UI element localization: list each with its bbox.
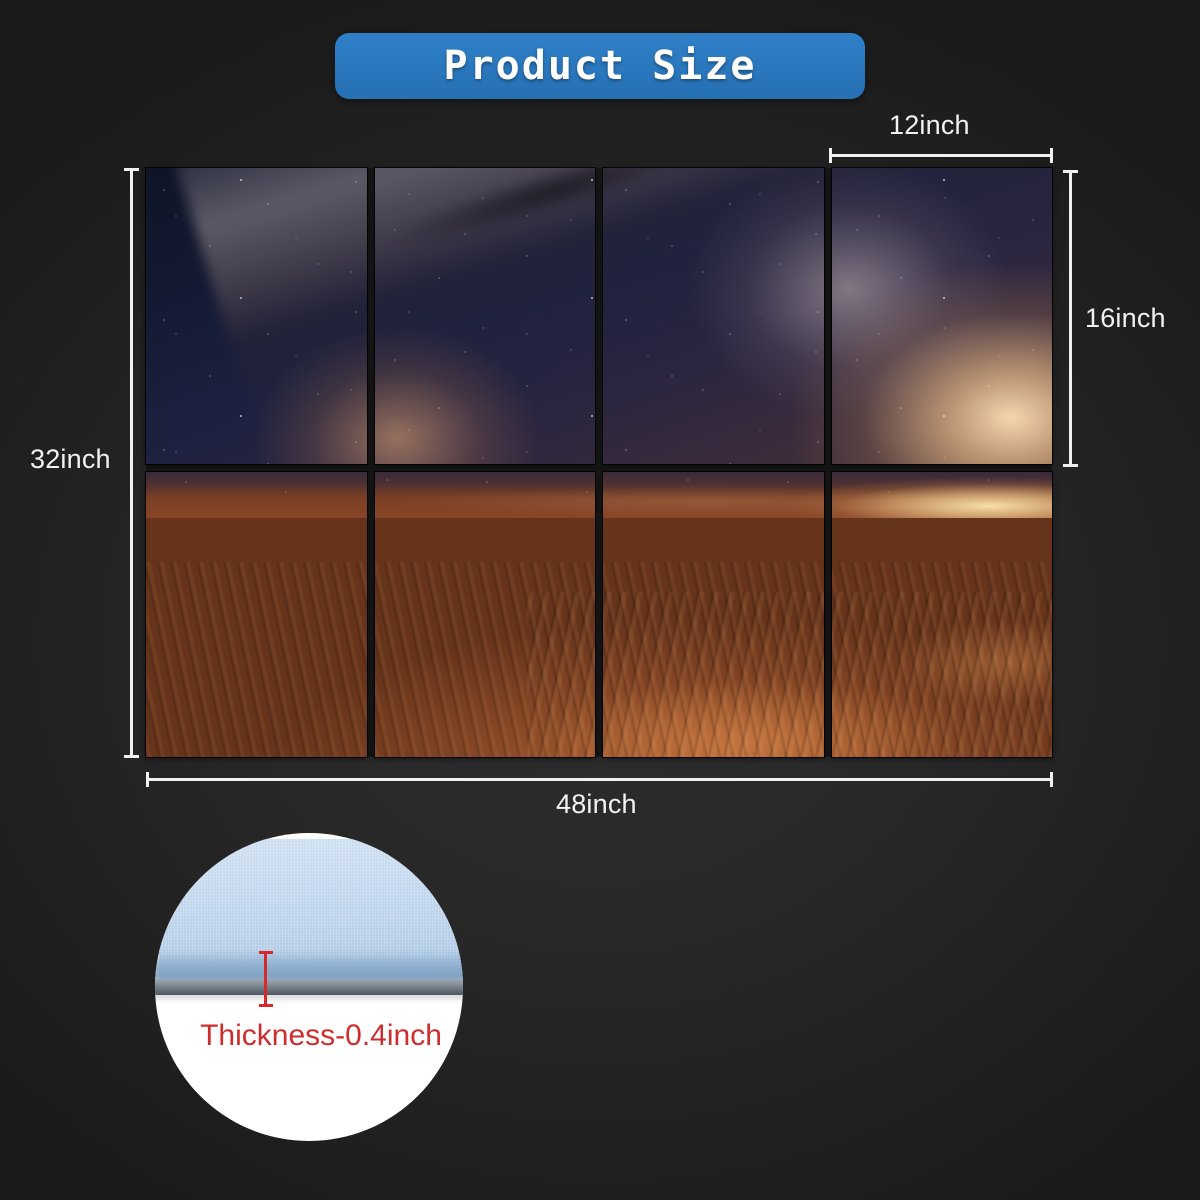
dimension-label-panel-width: 12inch bbox=[889, 110, 970, 141]
dimension-label-total-width: 48inch bbox=[556, 789, 637, 820]
sky-artwork-slice bbox=[603, 168, 824, 464]
canvas-panel-r2c2 bbox=[375, 472, 596, 757]
sky-artwork-slice bbox=[832, 168, 1053, 464]
star-field-secondary bbox=[146, 168, 367, 464]
canvas-panel-r2c4 bbox=[832, 472, 1053, 757]
canvas-panel-r2c1 bbox=[146, 472, 367, 757]
thickness-cap-bottom bbox=[259, 1004, 273, 1007]
dimension-label-panel-height: 16inch bbox=[1085, 303, 1166, 334]
dimension-line-total-width bbox=[146, 772, 1053, 787]
dimension-cap-bottom bbox=[124, 755, 139, 758]
star-field-secondary bbox=[832, 168, 1053, 464]
sand-ripples-secondary bbox=[603, 592, 824, 757]
dimension-bar bbox=[146, 778, 1053, 781]
star-field-secondary bbox=[375, 168, 596, 464]
canvas-panel-r2c3 bbox=[603, 472, 824, 757]
desert-artwork-slice bbox=[603, 472, 824, 757]
desert-artwork-slice bbox=[146, 472, 367, 757]
dimension-line-panel-width bbox=[829, 148, 1053, 162]
dimension-bar bbox=[130, 168, 133, 758]
sand-ripples-secondary bbox=[527, 592, 596, 757]
canvas-edge-closeup bbox=[155, 839, 463, 1019]
infographic-stage: Product Size bbox=[0, 0, 1200, 1200]
thickness-measure-bar bbox=[259, 951, 273, 1007]
dimension-cap-right bbox=[1050, 148, 1053, 163]
dimension-cap-right bbox=[1050, 772, 1053, 787]
dimension-cap-bottom bbox=[1063, 464, 1078, 467]
canvas-panel-r1c1 bbox=[146, 168, 367, 464]
thickness-detail-circle: Thickness-0.4inch bbox=[155, 833, 463, 1141]
dimension-bar bbox=[829, 154, 1053, 157]
canvas-panel-r1c2 bbox=[375, 168, 596, 464]
dimension-line-total-height bbox=[124, 168, 139, 758]
sky-artwork-slice bbox=[375, 168, 596, 464]
thickness-label: Thickness-0.4inch bbox=[167, 1019, 463, 1053]
sand-ripples-secondary bbox=[832, 592, 1053, 757]
dimension-bar bbox=[1069, 170, 1072, 467]
desert-artwork-slice bbox=[375, 472, 596, 757]
page-title: Product Size bbox=[444, 43, 757, 89]
canvas-drop-shadow bbox=[155, 993, 463, 1001]
dimension-label-total-height: 32inch bbox=[30, 444, 111, 475]
product-size-banner: Product Size bbox=[335, 33, 865, 99]
dimension-line-panel-height bbox=[1063, 170, 1078, 467]
canvas-panel-grid bbox=[146, 168, 1052, 757]
sky-artwork-slice bbox=[146, 168, 367, 464]
desert-artwork-slice bbox=[832, 472, 1053, 757]
canvas-panel-r1c3 bbox=[603, 168, 824, 464]
sand-ripples bbox=[146, 562, 367, 757]
thickness-bar-line bbox=[264, 951, 267, 1007]
canvas-panel-r1c4 bbox=[832, 168, 1053, 464]
star-field-secondary bbox=[603, 168, 824, 464]
